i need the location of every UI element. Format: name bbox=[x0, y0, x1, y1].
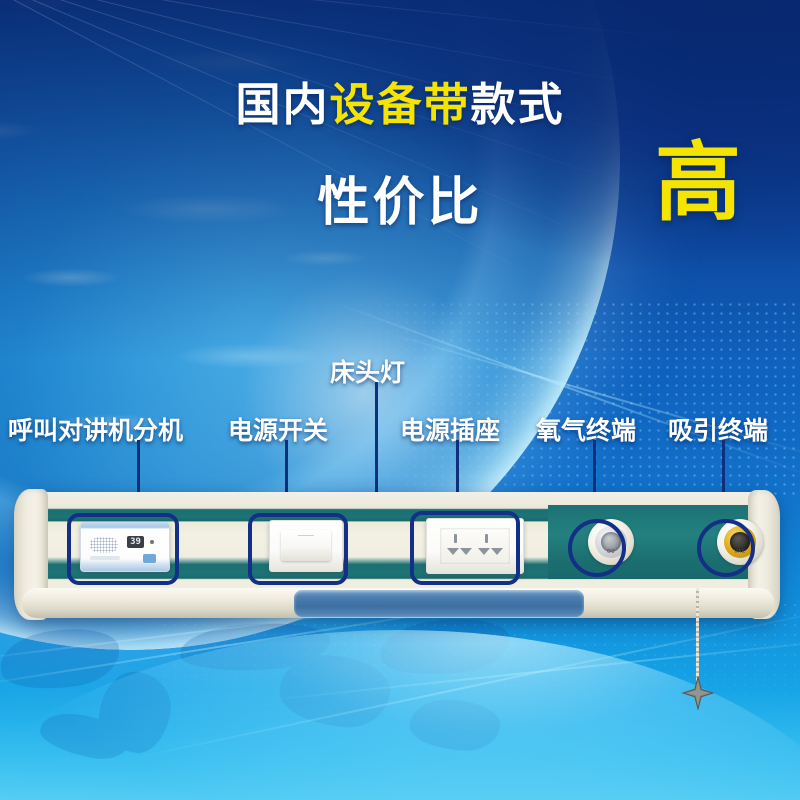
highlight-box-power-outlet bbox=[410, 511, 520, 585]
callout-label-power-outlet: 电源插座 bbox=[400, 418, 500, 443]
bed-lamp-diffuser bbox=[294, 590, 584, 617]
pull-cord[interactable] bbox=[696, 588, 699, 682]
highlight-circle-suction bbox=[697, 519, 755, 577]
callout-label-intercom: 呼叫对讲机分机 bbox=[8, 418, 183, 443]
callout-label-oxygen: 氧气终端 bbox=[536, 418, 636, 443]
highlight-box-intercom bbox=[67, 513, 179, 585]
callout-label-power-switch: 电源开关 bbox=[228, 418, 328, 443]
callout-group: 呼叫对讲机分机电源开关床头灯电源插座氧气终端吸引终端 bbox=[0, 0, 800, 800]
callout-label-bed-lamp: 床头灯 bbox=[330, 360, 405, 385]
callout-label-suction: 吸引终端 bbox=[668, 418, 768, 443]
promo-image: 国内设备带款式 性价比 高 呼叫对讲机分机电源开关床头灯电源插座氧气终端吸引终端… bbox=[0, 0, 800, 800]
highlight-box-power-switch bbox=[248, 513, 348, 585]
highlight-circle-oxygen bbox=[568, 519, 626, 577]
pull-cord-handle-icon[interactable] bbox=[681, 676, 715, 710]
